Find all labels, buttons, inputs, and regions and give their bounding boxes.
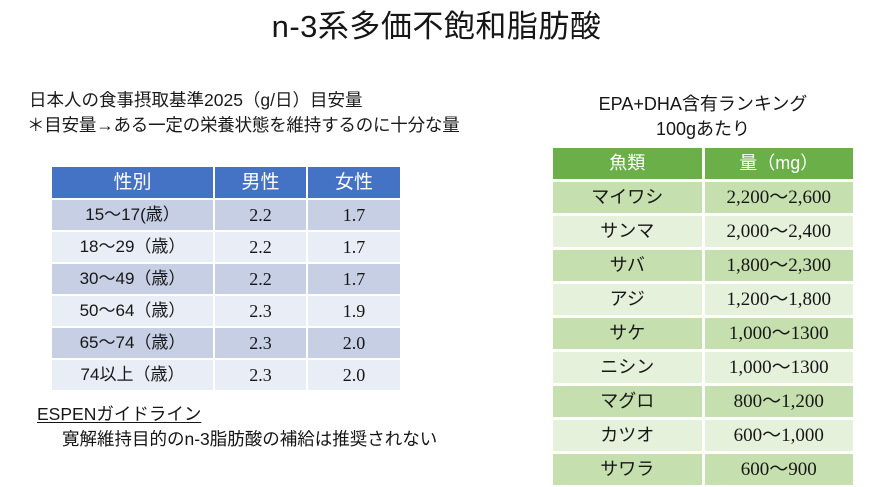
cell-amount: 1,800〜2,300 [703, 249, 853, 283]
intake-reference-table: 性別 男性 女性 15〜17(歳） 2.2 1.7 18〜29（歳） 2.2 1… [52, 167, 400, 390]
table-row: 15〜17(歳） 2.2 1.7 [52, 199, 400, 231]
table-header-row: 魚類 量（mg） [553, 148, 853, 181]
cell-fish-name: サワラ [553, 453, 703, 486]
cell-male-value: 2.2 [214, 199, 307, 231]
column-header-sex-age: 性別 [52, 167, 214, 199]
cell-fish-name: アジ [553, 283, 703, 317]
cell-male-value: 2.2 [214, 231, 307, 263]
cell-fish-name: サンマ [553, 215, 703, 249]
cell-amount: 1,000〜1300 [703, 317, 853, 351]
cell-fish-name: サバ [553, 249, 703, 283]
column-header-fish: 魚類 [553, 148, 703, 181]
left-column: 日本人の食事摂取基準2025（g/日）目安量 ＊目安量→ある一定の栄養状態を維持… [0, 88, 530, 138]
table-row: マイワシ 2,200〜2,600 [553, 181, 853, 215]
cell-male-value: 2.3 [214, 327, 307, 359]
cell-amount: 600〜1,000 [703, 419, 853, 453]
intake-standard-note-line1: 日本人の食事摂取基準2025（g/日）目安量 [29, 88, 530, 113]
table-row: 18〜29（歳） 2.2 1.7 [52, 231, 400, 263]
page-title: n-3系多価不飽和脂肪酸 [0, 6, 873, 48]
table-row: アジ 1,200〜1,800 [553, 283, 853, 317]
column-header-male: 男性 [214, 167, 307, 199]
cell-age-range: 30〜49（歳） [52, 263, 214, 295]
table-row: 30〜49（歳） 2.2 1.7 [52, 263, 400, 295]
table-row: カツオ 600〜1,000 [553, 419, 853, 453]
column-header-female: 女性 [307, 167, 400, 199]
cell-amount: 800〜1,200 [703, 385, 853, 419]
cell-amount: 1,000〜1300 [703, 351, 853, 385]
table-header-row: 性別 男性 女性 [52, 167, 400, 199]
cell-female-value: 1.7 [307, 199, 400, 231]
table-row: マグロ 800〜1,200 [553, 385, 853, 419]
cell-female-value: 2.0 [307, 359, 400, 390]
cell-male-value: 2.3 [214, 295, 307, 327]
cell-fish-name: サケ [553, 317, 703, 351]
cell-male-value: 2.3 [214, 359, 307, 390]
cell-female-value: 1.7 [307, 231, 400, 263]
table-row: サバ 1,800〜2,300 [553, 249, 853, 283]
cell-fish-name: ニシン [553, 351, 703, 385]
ranking-heading: EPA+DHA含有ランキング 100gあたり [553, 92, 853, 142]
table-row: サケ 1,000〜1300 [553, 317, 853, 351]
ranking-heading-line1: EPA+DHA含有ランキング [553, 92, 853, 117]
cell-amount: 600〜900 [703, 453, 853, 486]
espen-guideline-body: 寛解維持目的のn-3脂肪酸の補給は推奨されない [62, 426, 540, 452]
ranking-heading-line2: 100gあたり [553, 117, 853, 142]
cell-female-value: 1.7 [307, 263, 400, 295]
epa-dha-ranking-table: 魚類 量（mg） マイワシ 2,200〜2,600 サンマ 2,000〜2,40… [553, 148, 853, 485]
table-row: サンマ 2,000〜2,400 [553, 215, 853, 249]
table-row: 50〜64（歳） 2.3 1.9 [52, 295, 400, 327]
intake-standard-note-line2: ＊目安量→ある一定の栄養状態を維持するのに十分な量 [27, 113, 530, 138]
table-row: サワラ 600〜900 [553, 453, 853, 486]
column-header-amount: 量（mg） [703, 148, 853, 181]
cell-age-range: 74以上（歳） [52, 359, 214, 390]
cell-amount: 2,000〜2,400 [703, 215, 853, 249]
espen-guideline-heading: ESPENガイドライン [37, 402, 540, 426]
espen-guideline-block: ESPENガイドライン 寛解維持目的のn-3脂肪酸の補給は推奨されない [0, 402, 540, 452]
cell-age-range: 50〜64（歳） [52, 295, 214, 327]
table-row: 65〜74（歳） 2.3 2.0 [52, 327, 400, 359]
cell-female-value: 2.0 [307, 327, 400, 359]
table-row: ニシン 1,000〜1300 [553, 351, 853, 385]
cell-age-range: 15〜17(歳） [52, 199, 214, 231]
cell-fish-name: マグロ [553, 385, 703, 419]
cell-fish-name: カツオ [553, 419, 703, 453]
cell-amount: 2,200〜2,600 [703, 181, 853, 215]
cell-fish-name: マイワシ [553, 181, 703, 215]
table-row: 74以上（歳） 2.3 2.0 [52, 359, 400, 390]
cell-male-value: 2.2 [214, 263, 307, 295]
cell-age-range: 65〜74（歳） [52, 327, 214, 359]
cell-amount: 1,200〜1,800 [703, 283, 853, 317]
cell-female-value: 1.9 [307, 295, 400, 327]
cell-age-range: 18〜29（歳） [52, 231, 214, 263]
